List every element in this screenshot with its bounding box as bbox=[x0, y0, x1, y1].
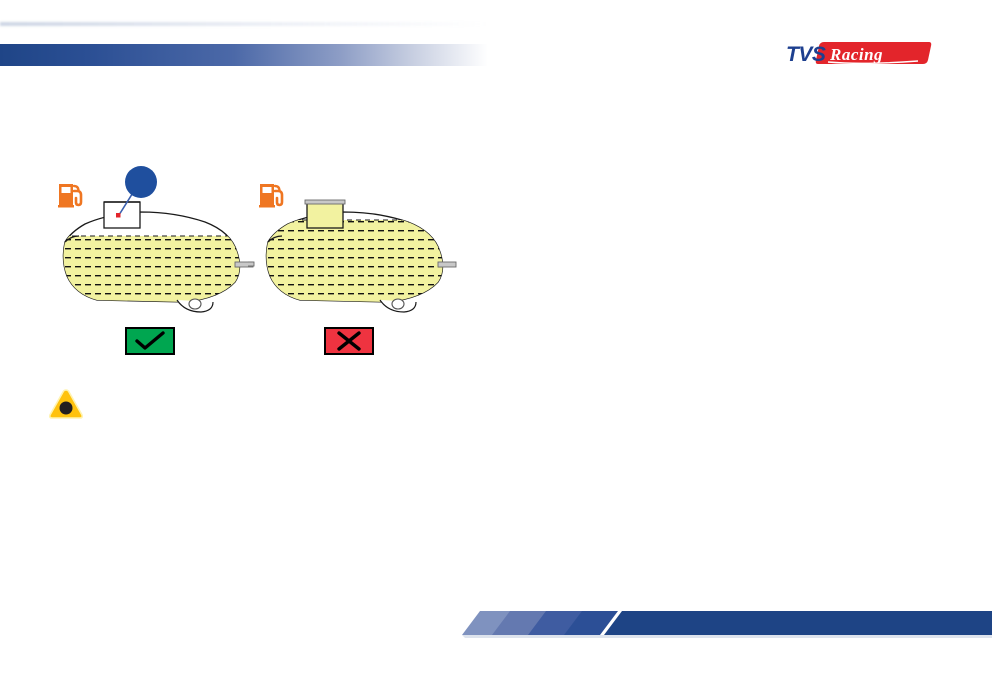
check-icon bbox=[133, 331, 167, 351]
warning-triangle-icon bbox=[48, 388, 84, 421]
page-content bbox=[0, 0, 992, 680]
callout-marker-circle bbox=[125, 166, 157, 198]
footer-accent-bar bbox=[0, 608, 992, 638]
cross-icon bbox=[336, 331, 362, 351]
fuel-tank-diagram-incorrect bbox=[248, 190, 463, 325]
fill-level-callout bbox=[108, 160, 168, 225]
verdict-incorrect-badge bbox=[324, 327, 374, 355]
footer-main-bar bbox=[604, 611, 992, 635]
verdict-correct-badge bbox=[125, 327, 175, 355]
callout-point-marker bbox=[116, 213, 121, 218]
